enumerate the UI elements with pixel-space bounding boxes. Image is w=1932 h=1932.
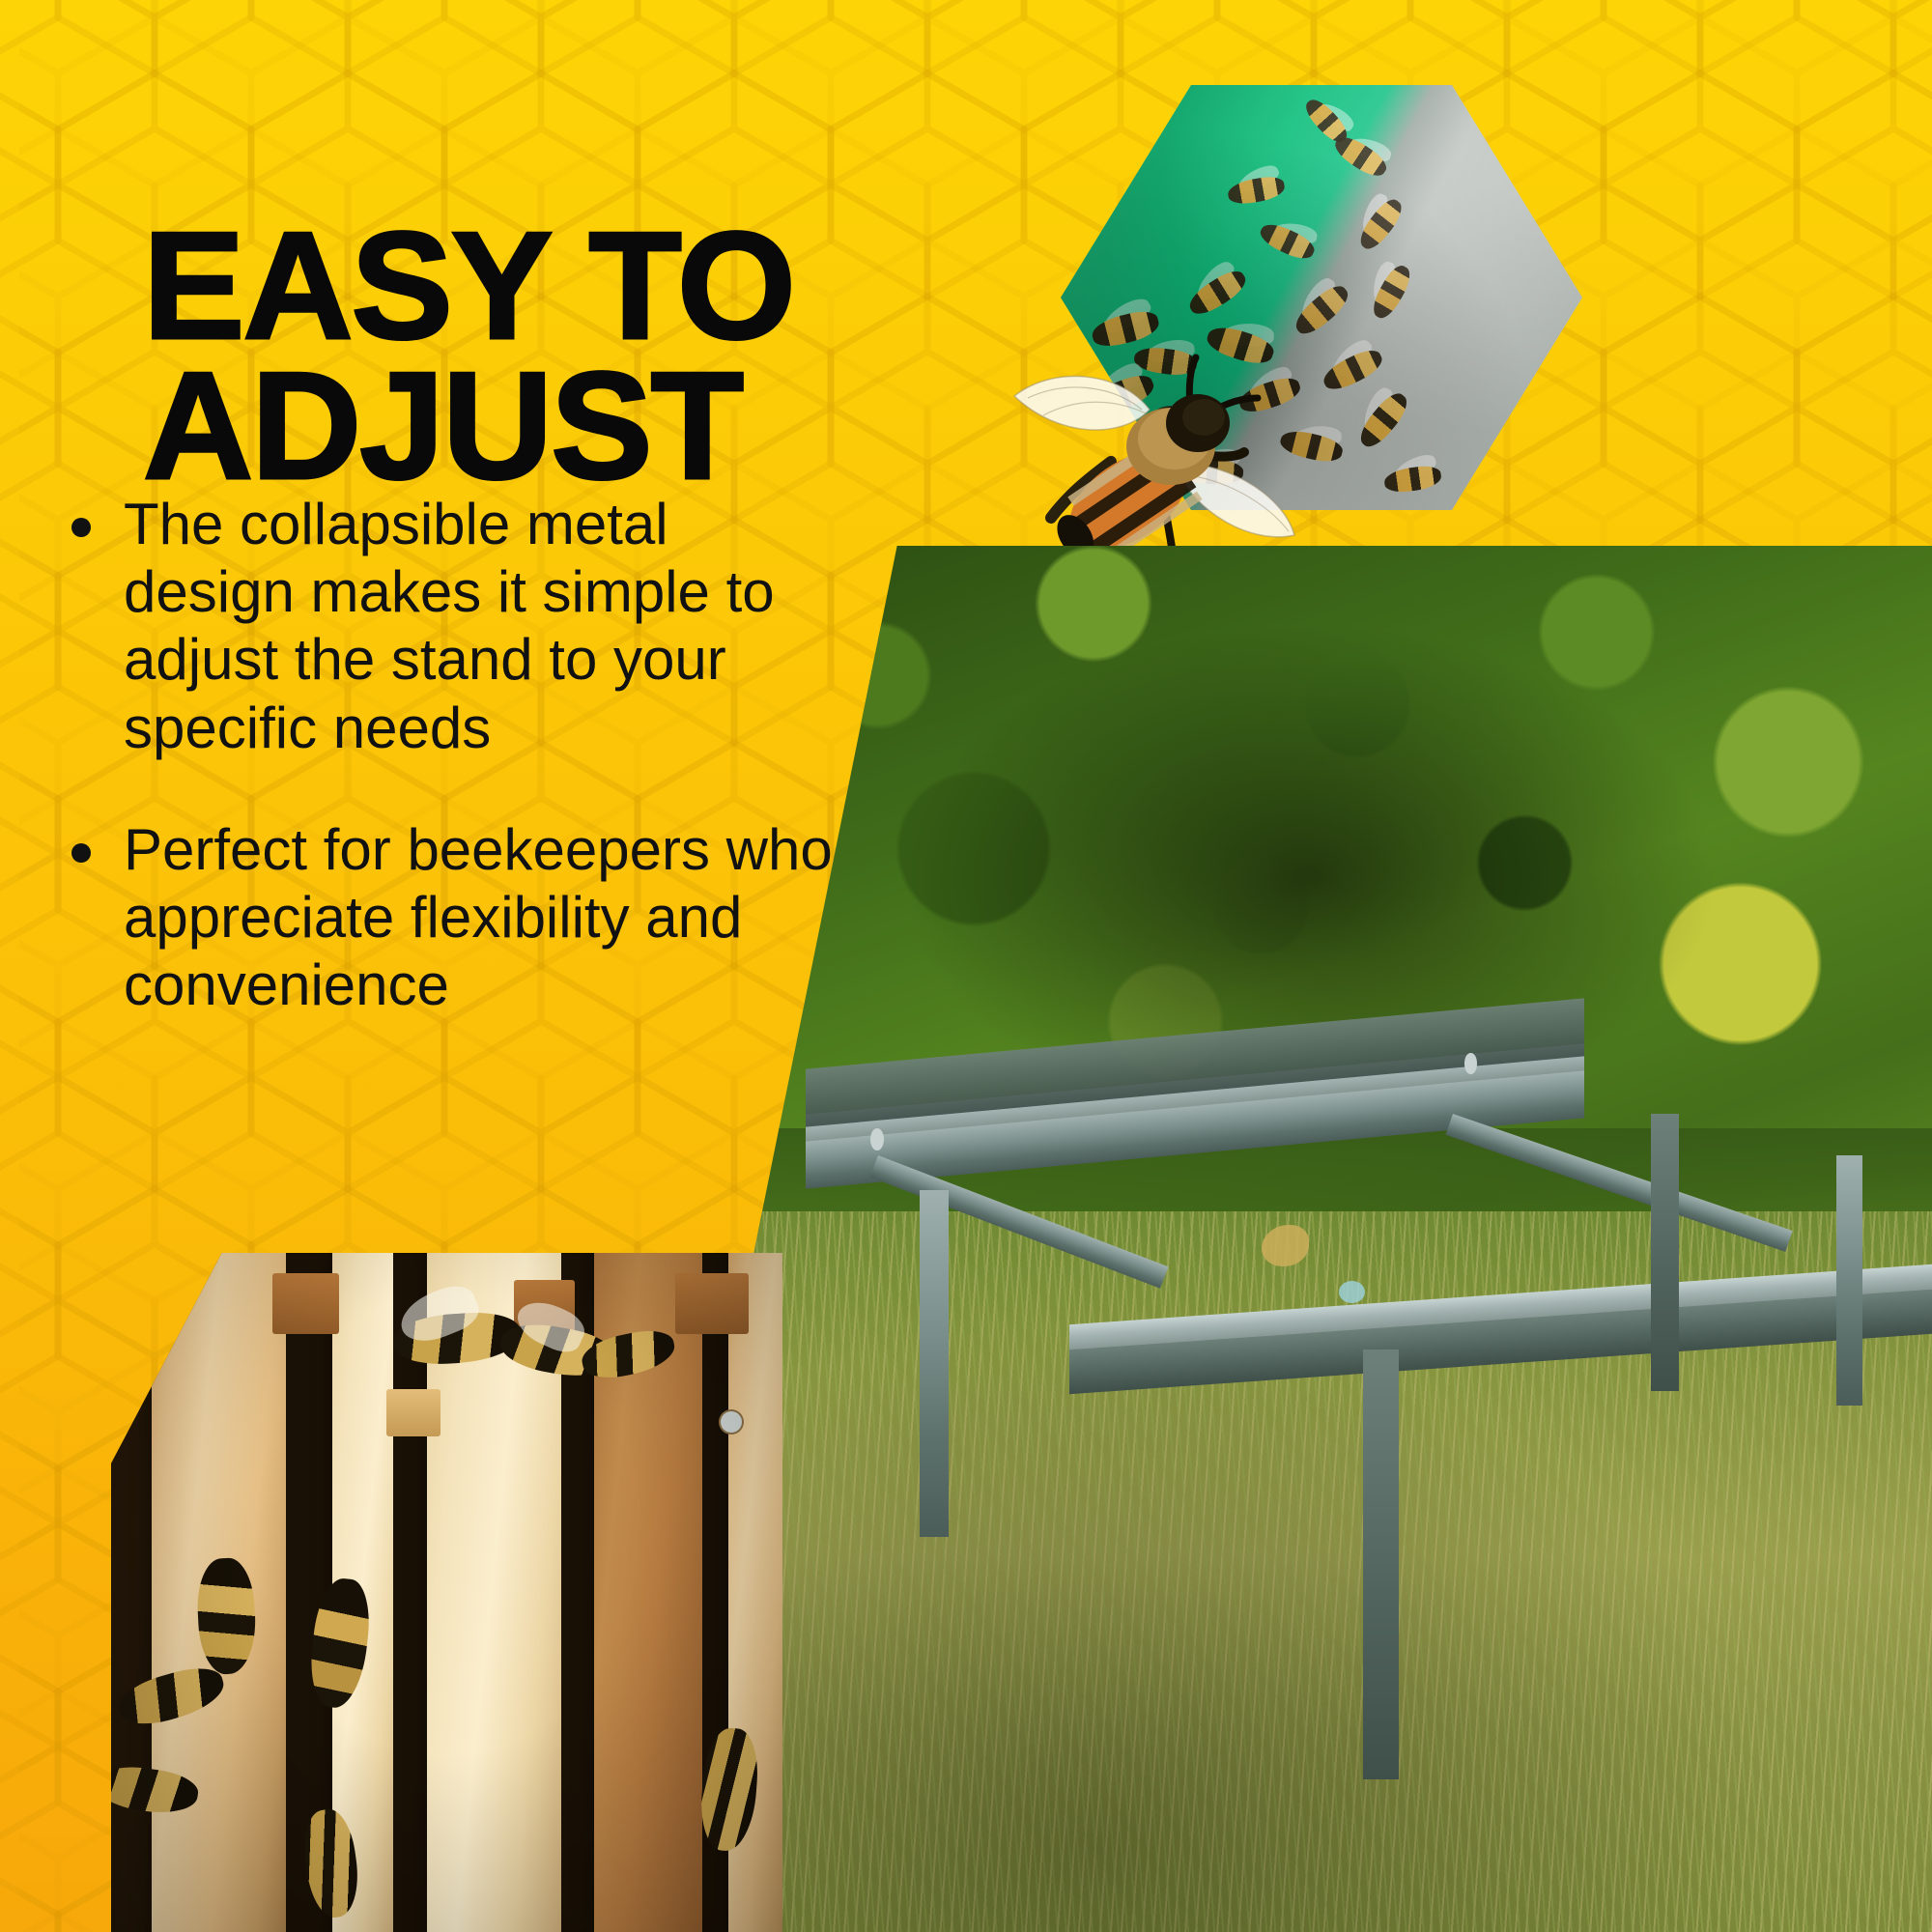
stand-leg-back-far	[1836, 1155, 1862, 1405]
stand-leg-front-left	[920, 1190, 949, 1537]
bullet-text: The collapsible metal design makes it si…	[124, 491, 833, 762]
metal-hive-stand-photo	[734, 546, 1932, 1932]
hive-frame-tops	[111, 1253, 782, 1932]
title-line-2: ADJUST	[143, 356, 858, 497]
bullet-dot-icon	[71, 843, 91, 863]
stand-bolt-right	[1464, 1053, 1476, 1074]
list-item: The collapsible metal design makes it si…	[60, 491, 833, 762]
list-item: Perfect for beekeepers who appreciate fl…	[60, 816, 833, 1020]
bullet-text: Perfect for beekeepers who appreciate fl…	[124, 816, 833, 1020]
title-line-1: EASY TO	[143, 216, 858, 356]
ground-glint	[1339, 1281, 1365, 1303]
poster-root: EASY TO ADJUST The collapsible metal des…	[0, 0, 1932, 1932]
stand-leg-front-right	[1363, 1350, 1399, 1779]
stand-leg-back-right	[1651, 1114, 1680, 1391]
hive-frames-bees-photo	[111, 1253, 782, 1932]
stand-bolt-left	[870, 1128, 884, 1151]
page-title: EASY TO ADJUST	[143, 216, 858, 497]
bullet-dot-icon	[71, 518, 91, 537]
feature-bullet-list: The collapsible metal design makes it si…	[60, 491, 833, 1073]
